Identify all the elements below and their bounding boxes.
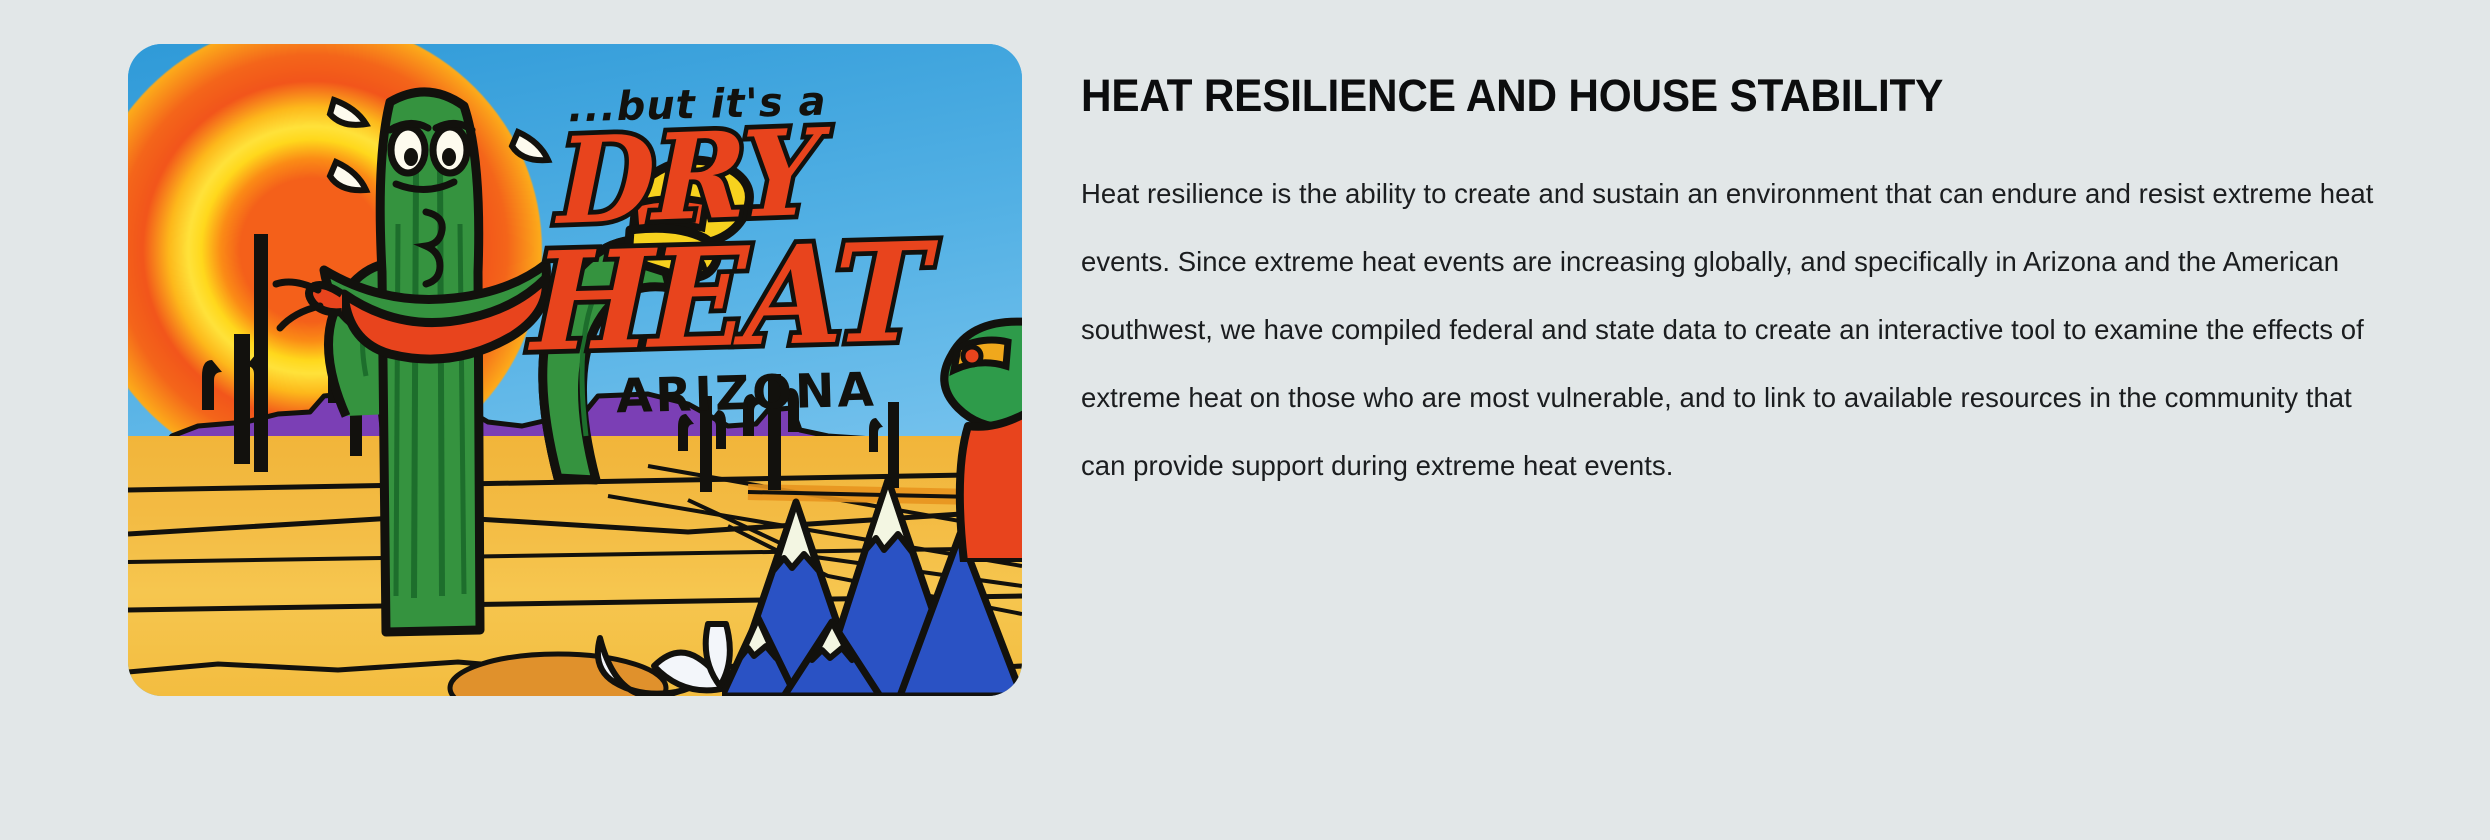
article-content: HEAT RESILIENCE AND HOUSE STABILITY Heat…: [1081, 70, 2381, 500]
article-paragraph: Heat resilience is the ability to create…: [1081, 160, 2381, 500]
postcard-state-label: ARIZONA: [615, 363, 877, 425]
article-body: Heat resilience is the ability to create…: [1081, 160, 2381, 500]
postcard-lettering: ...but it's a DRY HEAT ARIZONA: [128, 44, 1022, 696]
page-title: HEAT RESILIENCE AND HOUSE STABILITY: [1081, 70, 2303, 122]
postcard-word-heat: HEAT: [530, 225, 927, 371]
postcard-canvas: ...but it's a DRY HEAT ARIZONA: [128, 44, 1022, 696]
postcard-illustration: ...but it's a DRY HEAT ARIZONA: [128, 44, 1022, 696]
page-root: ...but it's a DRY HEAT ARIZONA HEAT RESI…: [0, 0, 2490, 840]
